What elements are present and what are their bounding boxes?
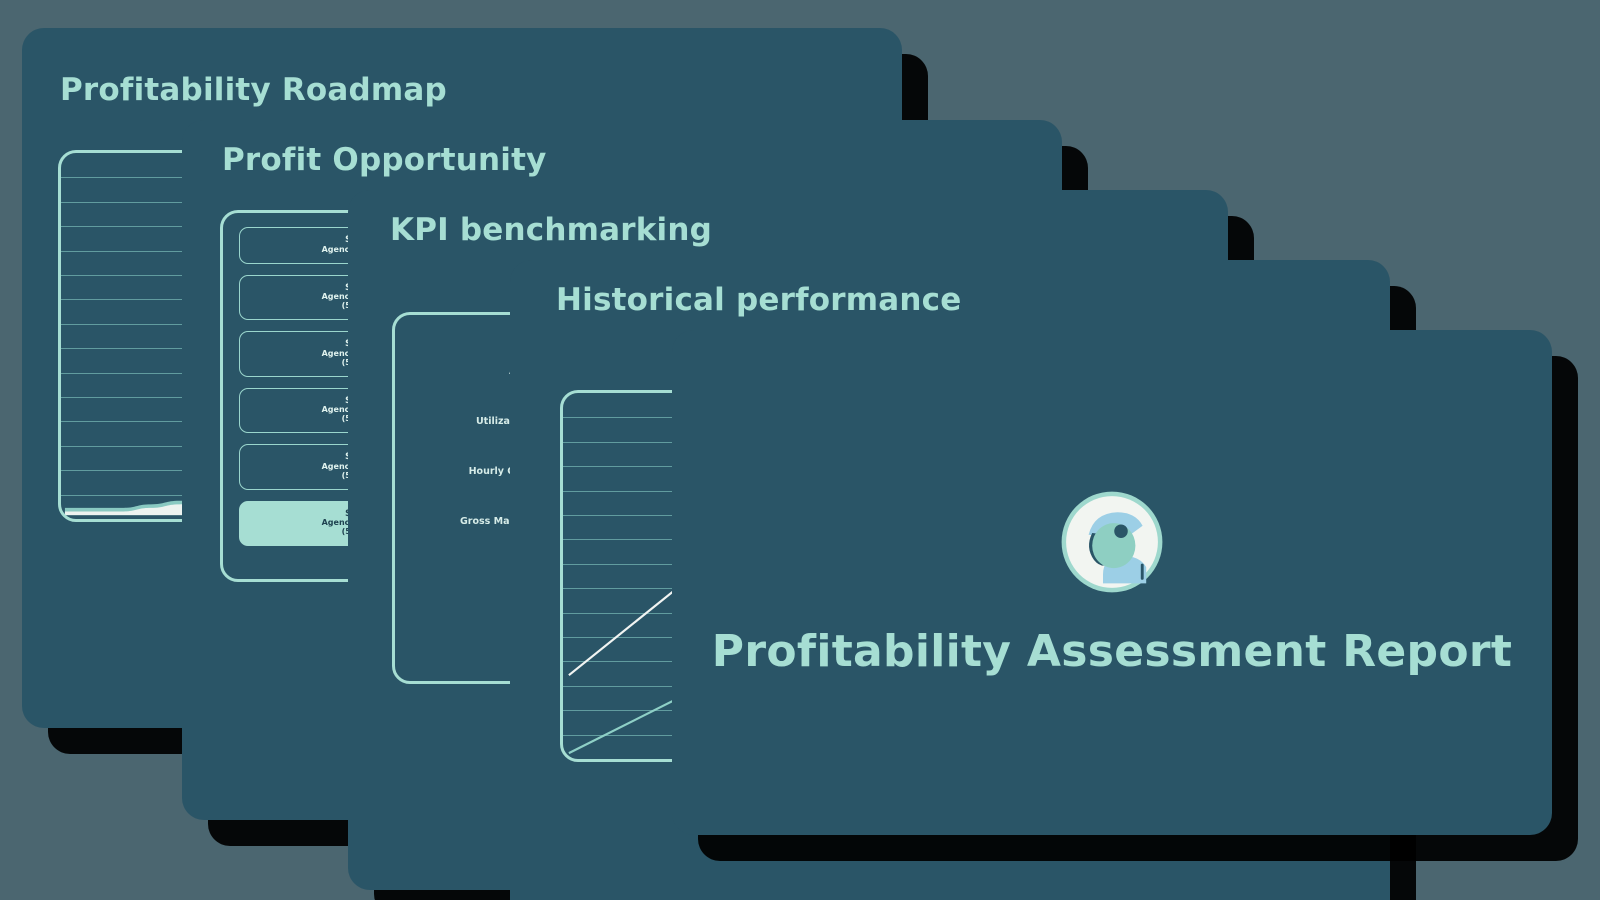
slide-card-cover[interactable]: Profitability Assessment Report	[672, 330, 1552, 835]
slide-title-profit-opportunity: Profit Opportunity	[222, 142, 547, 178]
slide-stack: Profitability Roadmap Profit Opportunity…	[0, 0, 1600, 900]
slide-title-historical-performance: Historical performance	[556, 282, 961, 318]
slide-title-kpi-benchmarking: KPI benchmarking	[390, 212, 712, 248]
slide-title-profitability-roadmap: Profitability Roadmap	[60, 72, 447, 108]
cover-report-title: Profitability Assessment Report	[712, 626, 1512, 677]
parrot-circle-logo	[1058, 488, 1166, 596]
